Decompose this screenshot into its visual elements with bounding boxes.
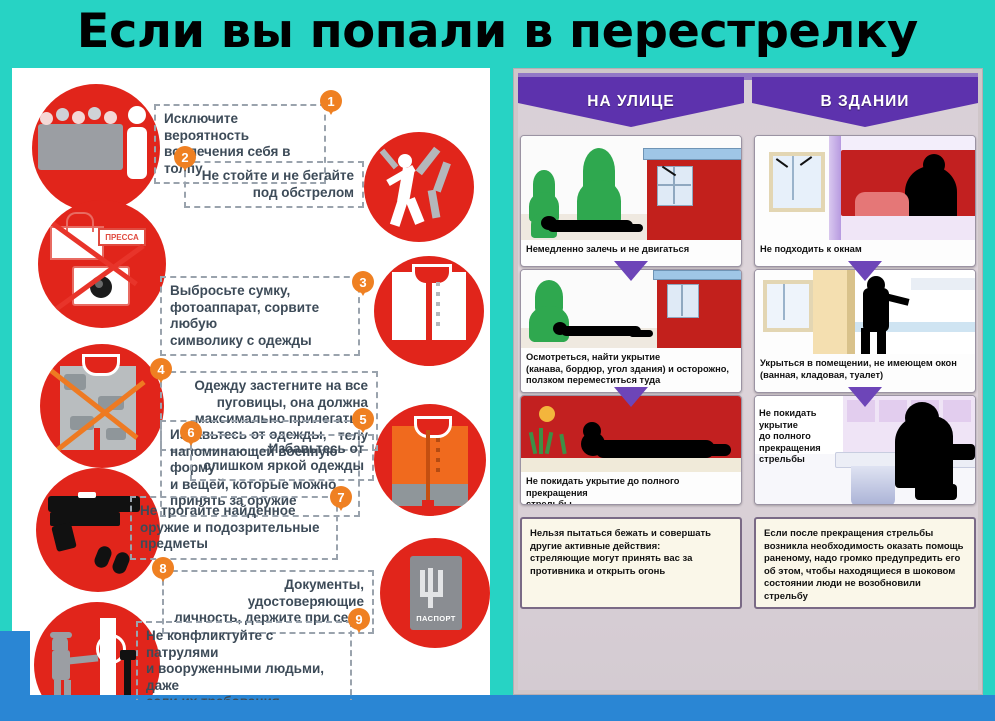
item-badge-7: 7 (330, 486, 352, 508)
note-indoors: Если после прекращения стрельбы возникла… (754, 517, 976, 609)
caption-outdoors-2: Осмотреться, найти укрытие (канава, борд… (521, 348, 741, 392)
bright-jacket-icon (374, 404, 486, 516)
arrow-outdoors-1-2 (614, 261, 648, 281)
right-panel-inner: НА УЛИЦЕ В ЗДАНИИ (518, 73, 978, 690)
page-title-bar: Если вы попали в перестрелку (0, 0, 995, 62)
arrow-indoors-2-3 (848, 387, 882, 407)
note-outdoors: Нельзя пытаться бежать и совершать други… (520, 517, 742, 609)
item-callout-2: Не стойте и не бегайте под обстрелом (184, 161, 364, 208)
item-badge-5: 5 (352, 408, 374, 430)
header-outdoors: НА УЛИЦЕ (518, 77, 744, 127)
caption-outdoors-1: Немедленно залечь и не двигаться (521, 240, 741, 261)
left-panel-rules: 1 Исключите вероятность вовлечения себя … (12, 68, 490, 700)
cell-outdoors-1: Немедленно залечь и не двигаться (520, 135, 742, 267)
item-callout-9: Не конфликтуйте с патрулями и вооруженны… (136, 621, 352, 700)
scene-person-crawling-to-cover (521, 270, 741, 348)
item-callout-7: Не трогайте найденное оружие и подозрите… (130, 496, 338, 560)
camouflage-crossed-icon (40, 344, 164, 468)
scene-person-lying-red-background (521, 396, 741, 472)
banner-row: НА УЛИЦЕ В ЗДАНИИ (518, 73, 978, 131)
scene-person-entering-windowless-room (755, 270, 975, 354)
caption-indoors-1: Не подходить к окнам (755, 240, 975, 261)
passport-label: ПАСПОРТ (412, 612, 460, 624)
cell-outdoors-2: Осмотреться, найти укрытие (канава, борд… (520, 269, 742, 393)
buttoned-jacket-icon (374, 256, 484, 366)
caption-outdoors-3: Не покидать укрытие до полного прекращен… (521, 472, 741, 505)
scene-person-away-from-window (755, 136, 975, 240)
running-under-fire-icon (364, 132, 474, 242)
passport-icon: ПАСПОРТ (380, 538, 490, 648)
cell-indoors-3: Не покидать укрытие до полного прекращен… (754, 395, 976, 505)
item-callout-6: Избавьтесь от слишком яркой одежды (190, 434, 374, 481)
press-bag-camera-icon: ПРЕССА (38, 200, 166, 328)
crowd-icon (32, 84, 160, 212)
item-badge-2: 2 (174, 146, 196, 168)
arrow-indoors-1-2 (848, 261, 882, 281)
arrow-outdoors-2-3 (614, 387, 648, 407)
item-badge-3: 3 (352, 271, 374, 293)
cell-indoors-2: Укрыться в помещении, не имеющем окон (в… (754, 269, 976, 393)
header-indoors: В ЗДАНИИ (752, 77, 978, 127)
cell-outdoors-3: Не покидать укрытие до полного прекращен… (520, 395, 742, 505)
right-panel-scenarios: НА УЛИЦЕ В ЗДАНИИ (513, 68, 983, 695)
item-badge-6: 6 (180, 421, 202, 443)
item-badge-4: 4 (150, 358, 172, 380)
press-badge-label: ПРЕССА (98, 228, 146, 246)
item-badge-8: 8 (152, 557, 174, 579)
scene-person-lying-outdoors (521, 136, 741, 240)
caption-indoors-2: Укрыться в помещении, не имеющем окон (в… (755, 354, 975, 386)
caption-indoors-3: Не покидать укрытие до полного прекращен… (759, 408, 841, 466)
item-callout-3: Выбросьте сумку, фотоаппарат, сорвите лю… (160, 276, 360, 356)
cell-indoors-1: Не подходить к окнам (754, 135, 976, 267)
page-title: Если вы попали в перестрелку (77, 4, 918, 59)
item-badge-9: 9 (348, 608, 370, 630)
left-blue-strip (0, 631, 30, 721)
item-badge-1: 1 (320, 90, 342, 112)
